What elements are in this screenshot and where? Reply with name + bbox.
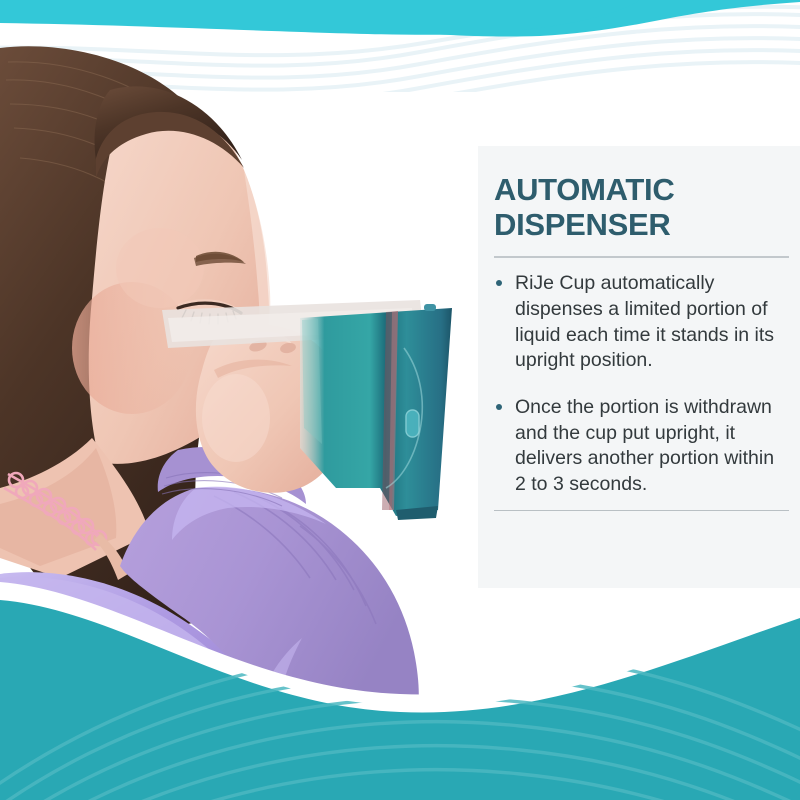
footer-divider bbox=[494, 510, 789, 511]
page-title: AUTOMATIC DISPENSER bbox=[494, 172, 784, 242]
feature-list: RiJe Cup automatically dispenses a limit… bbox=[494, 271, 784, 498]
list-item: Once the portion is withdrawn and the cu… bbox=[494, 395, 784, 498]
headline-line-1: AUTOMATIC bbox=[494, 172, 674, 207]
list-item: RiJe Cup automatically dispenses a limit… bbox=[494, 271, 784, 374]
bullet-dot-icon bbox=[496, 404, 502, 410]
bullet-text: Once the portion is withdrawn and the cu… bbox=[515, 396, 774, 495]
bullet-text: RiJe Cup automatically dispenses a limit… bbox=[515, 272, 774, 371]
headline-divider bbox=[494, 256, 789, 258]
text-panel: AUTOMATIC DISPENSER RiJe Cup automatical… bbox=[478, 146, 800, 588]
product-infographic: AUTOMATIC DISPENSER RiJe Cup automatical… bbox=[0, 0, 800, 800]
headline-line-2: DISPENSER bbox=[494, 207, 784, 242]
bullet-dot-icon bbox=[496, 280, 502, 286]
